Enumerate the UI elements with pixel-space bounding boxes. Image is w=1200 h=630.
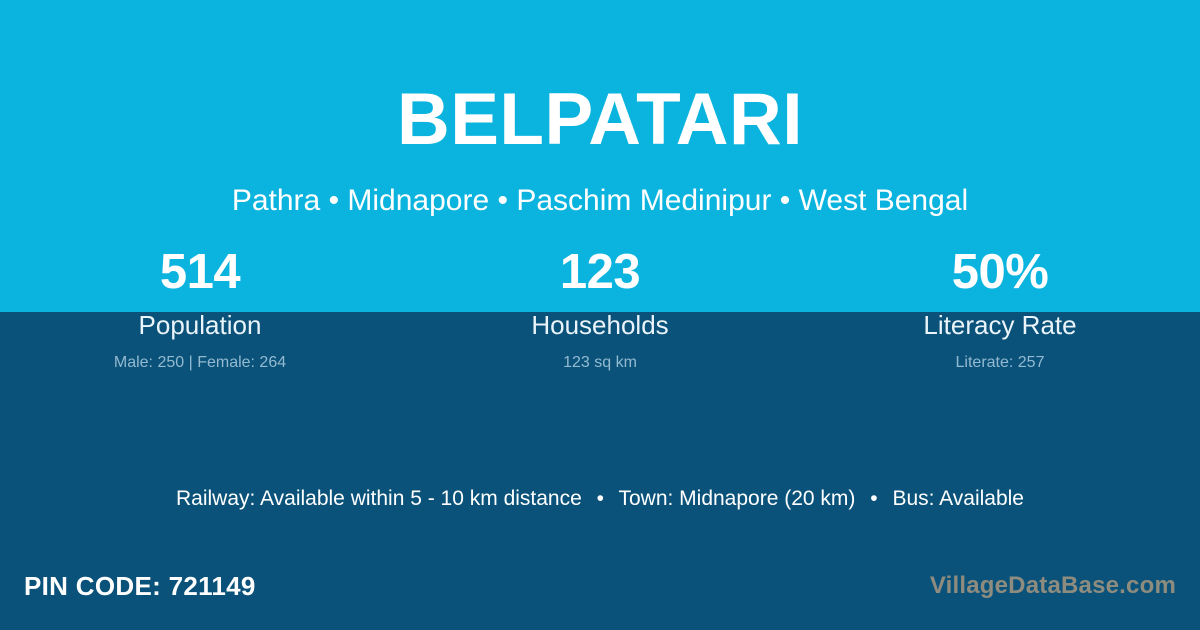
pin-code: PIN CODE: 721149 — [24, 573, 256, 599]
stats-row: 514 Population Male: 250 | Female: 264 1… — [0, 245, 1200, 371]
stat-literacy-rate-value: 50% — [952, 245, 1049, 300]
stat-literacy-rate-label: Literacy Rate — [923, 312, 1076, 338]
stat-literacy-rate-sub: Literate: 257 — [956, 355, 1045, 371]
stat-households-label: Households — [531, 312, 668, 338]
stat-population: 514 Population Male: 250 | Female: 264 — [0, 245, 400, 371]
brand-watermark: VillageDataBase.com — [930, 574, 1176, 598]
page-title: BELPATARI — [0, 83, 1200, 156]
amenity-bus: Bus: Available — [892, 487, 1024, 510]
breadcrumb: Pathra • Midnapore • Paschim Medinipur •… — [0, 182, 1200, 220]
stat-literacy-rate: 50% Literacy Rate Literate: 257 — [800, 245, 1200, 371]
amenity-railway: Railway: Available within 5 - 10 km dist… — [176, 487, 582, 510]
amenity-separator-1: • — [588, 485, 613, 512]
stat-households-sub: 123 sq km — [563, 355, 637, 371]
stat-households-value: 123 — [560, 245, 640, 300]
footer: PIN CODE: 721149 VillageDataBase.com — [0, 558, 1200, 630]
stat-population-label: Population — [139, 312, 262, 338]
stat-households: 123 Households 123 sq km — [400, 245, 800, 371]
stat-population-sub: Male: 250 | Female: 264 — [114, 355, 286, 371]
amenity-separator-2: • — [861, 485, 886, 512]
amenities-line: Railway: Available within 5 - 10 km dist… — [0, 485, 1200, 512]
village-info-card: BELPATARI Pathra • Midnapore • Paschim M… — [0, 0, 1200, 630]
amenity-town: Town: Midnapore (20 km) — [618, 487, 855, 510]
stat-population-value: 514 — [160, 245, 240, 300]
